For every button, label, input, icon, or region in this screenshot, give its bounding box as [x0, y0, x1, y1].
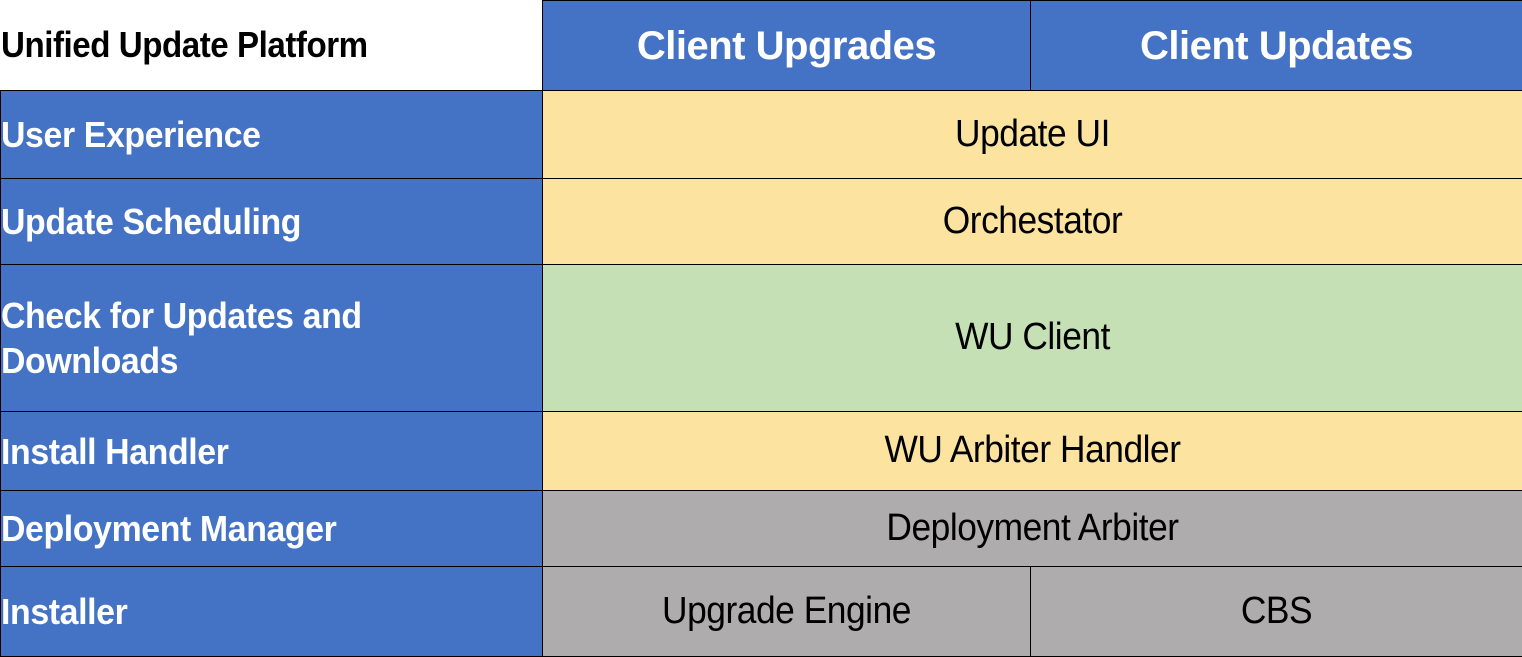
table-row: Install Handler WU Arbiter Handler	[1, 412, 1522, 491]
cell-deployment-manager-value: Deployment Arbiter	[543, 491, 1522, 567]
table-row: Update Scheduling Orchestator	[1, 179, 1522, 265]
unified-update-platform-table: Unified Update Platform Client Upgrades …	[0, 0, 1522, 657]
table-header-row: Unified Update Platform Client Upgrades …	[1, 1, 1522, 91]
table-row: Deployment Manager Deployment Arbiter	[1, 491, 1522, 567]
column-header-client-upgrades-label: Client Upgrades	[637, 24, 936, 68]
table-row: Check for Updates and Downloads WU Clien…	[1, 265, 1522, 412]
column-header-client-updates-label: Client Updates	[1140, 24, 1413, 68]
cell-user-experience-value: Update UI	[543, 91, 1522, 179]
column-header-client-updates: Client Updates	[1031, 1, 1522, 91]
cell-install-handler-text: WU Arbiter Handler	[577, 430, 1487, 472]
row-label-check-for-updates-and-downloads-text: Check for Updates and Downloads	[1, 293, 510, 383]
row-label-user-experience: User Experience	[1, 91, 543, 179]
page-title-text: Unified Update Platform	[1, 24, 368, 65]
cell-update-scheduling-value: Orchestator	[543, 179, 1522, 265]
row-label-deployment-manager-text: Deployment Manager	[1, 506, 510, 551]
table-row: User Experience Update UI	[1, 91, 1522, 179]
cell-installer-updates-value: CBS	[1031, 567, 1522, 657]
cell-installer-updates-text: CBS	[1048, 591, 1505, 633]
row-label-installer-text: Installer	[1, 589, 510, 634]
cell-check-for-updates-text: WU Client	[577, 317, 1487, 359]
row-label-install-handler-text: Install Handler	[1, 429, 510, 474]
cell-user-experience-text: Update UI	[577, 114, 1487, 156]
page-title: Unified Update Platform	[1, 1, 500, 91]
row-label-deployment-manager: Deployment Manager	[1, 491, 543, 567]
table-row: Installer Upgrade Engine CBS	[1, 567, 1522, 657]
column-header-client-upgrades: Client Upgrades	[543, 1, 1031, 91]
cell-check-for-updates-value: WU Client	[543, 265, 1522, 412]
row-label-user-experience-text: User Experience	[1, 112, 510, 157]
row-label-check-for-updates-and-downloads: Check for Updates and Downloads	[1, 265, 543, 412]
row-label-install-handler: Install Handler	[1, 412, 543, 491]
cell-deployment-manager-text: Deployment Arbiter	[577, 508, 1487, 550]
cell-installer-upgrades-text: Upgrade Engine	[560, 591, 1013, 633]
row-label-update-scheduling-text: Update Scheduling	[1, 199, 510, 244]
cell-installer-upgrades-value: Upgrade Engine	[543, 567, 1031, 657]
cell-update-scheduling-text: Orchestator	[577, 201, 1487, 243]
row-label-update-scheduling: Update Scheduling	[1, 179, 543, 265]
cell-install-handler-value: WU Arbiter Handler	[543, 412, 1522, 491]
row-label-installer: Installer	[1, 567, 543, 657]
